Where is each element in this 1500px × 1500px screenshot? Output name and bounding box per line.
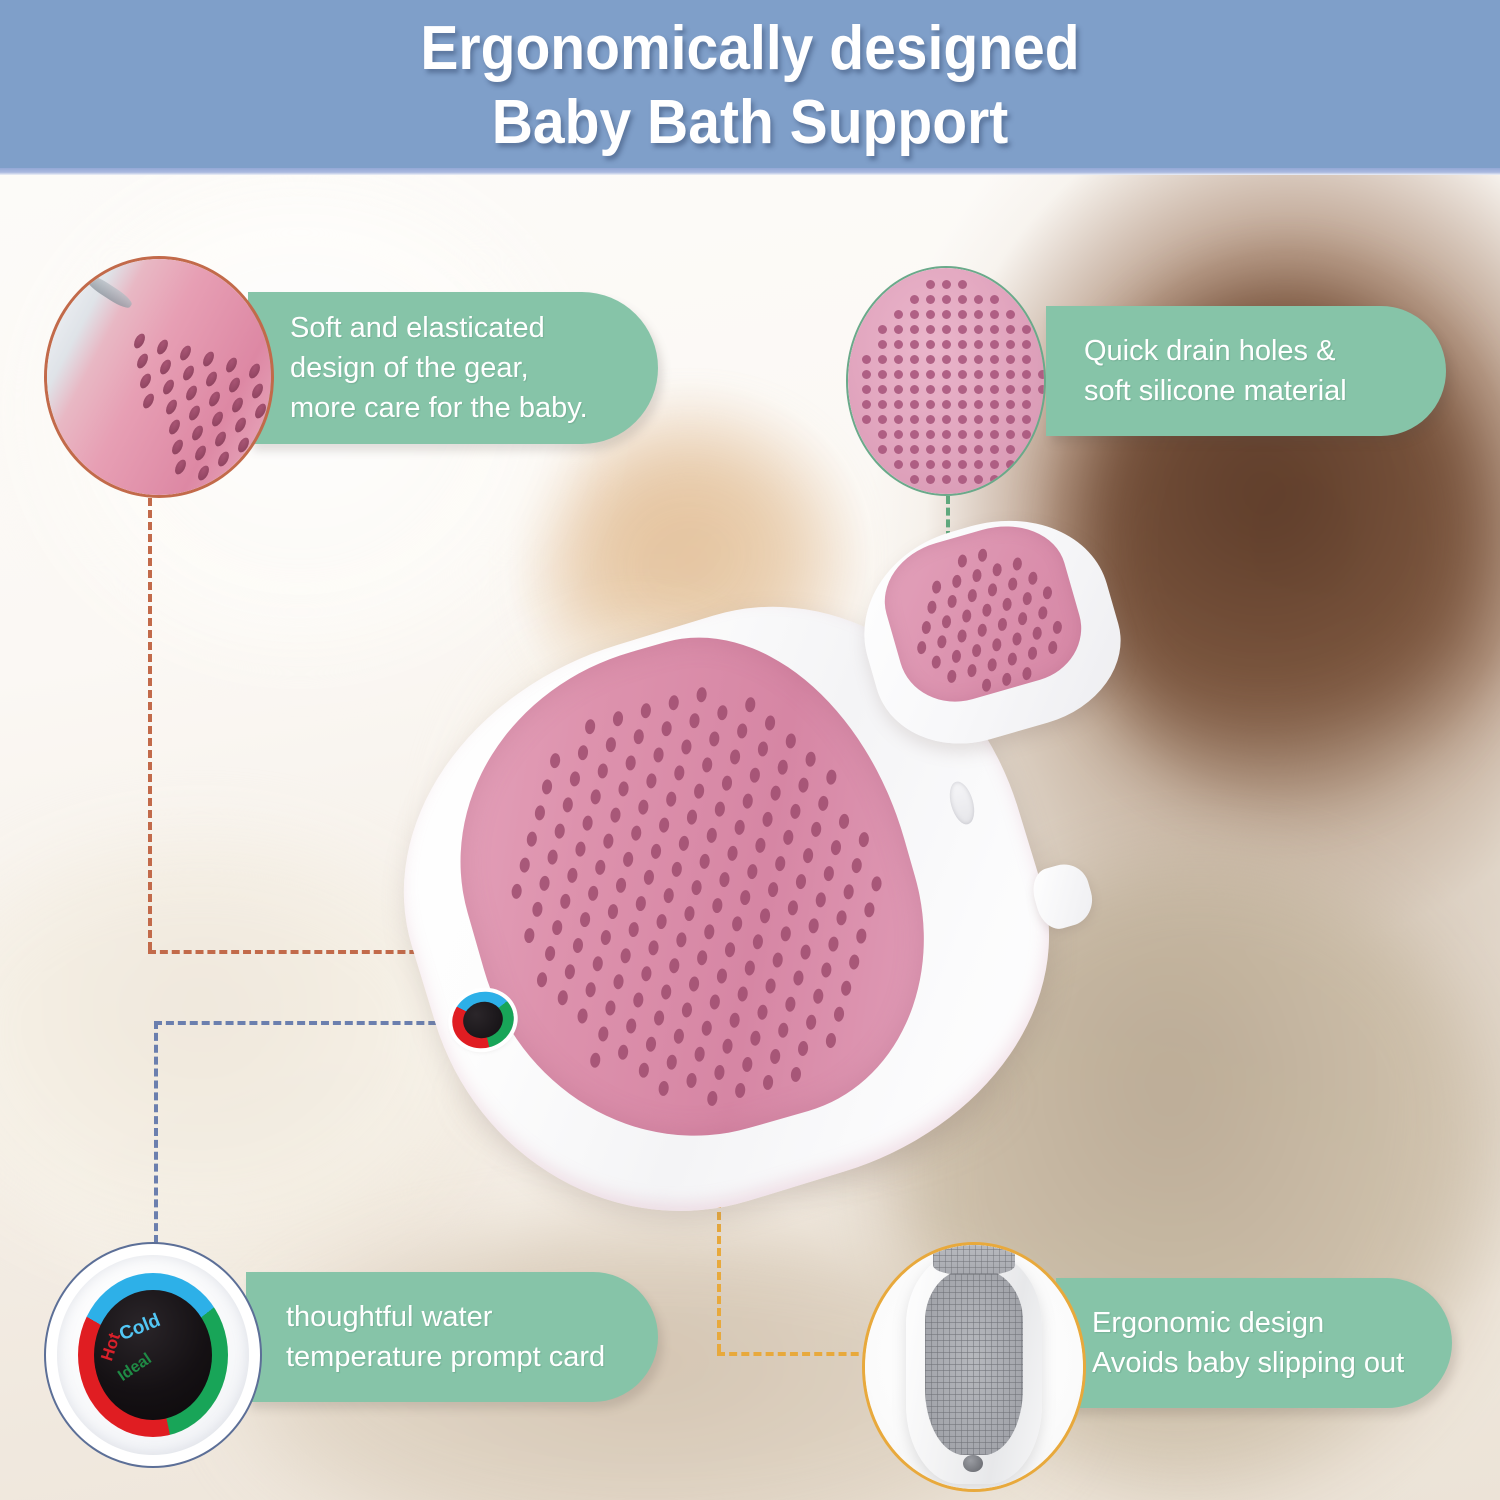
callout-pill-soft-elasticated: Soft and elasticated design of the gear,… — [248, 292, 658, 444]
page-title: Ergonomically designed Baby Bath Support — [60, 0, 1440, 160]
topdown-mesh-seat — [925, 1269, 1023, 1454]
callout-circle-ergonomic — [862, 1242, 1086, 1492]
callout-text-quick-drain: Quick drain holes & soft silicone materi… — [1084, 331, 1347, 411]
product-illustration — [395, 505, 1155, 1245]
circle-content-drain-holes — [848, 268, 1044, 494]
callout-line: temperature prompt card — [286, 1337, 605, 1377]
callout-pill-temperature: thoughtful water temperature prompt card — [246, 1272, 658, 1402]
gear-drain-holes — [47, 259, 271, 495]
circle-content-ergonomic-topdown — [865, 1245, 1083, 1489]
circle-content-pink-gear — [47, 259, 271, 495]
circle-content-temperature-card: Cold Hot Ideal — [46, 1244, 260, 1466]
callout-circle-quick-drain — [846, 266, 1046, 496]
header-band: Ergonomically designed Baby Bath Support — [0, 0, 1500, 168]
callout-pill-ergonomic: Ergonomic design Avoids baby slipping ou… — [1056, 1278, 1452, 1408]
topdown-drain-knob — [963, 1455, 983, 1472]
headrest-drain-holes — [872, 511, 1050, 562]
callout-line: design of the gear, — [290, 348, 588, 388]
infographic-canvas: Ergonomically designed Baby Bath Support — [0, 0, 1500, 1500]
topdown-headrest — [933, 1245, 1016, 1274]
title-line-2: Baby Bath Support — [60, 86, 1440, 160]
header-divider — [0, 168, 1500, 175]
connector-line-temperature-vertical — [154, 1021, 158, 1243]
title-line-1: Ergonomically designed — [420, 14, 1079, 83]
callout-line: Ergonomic design — [1092, 1303, 1404, 1343]
connector-line-ergonomic-horizontal — [717, 1352, 883, 1356]
callout-line: Quick drain holes & — [1084, 331, 1347, 371]
callout-line: Avoids baby slipping out — [1092, 1343, 1404, 1383]
callout-circle-soft-elasticated — [44, 256, 274, 498]
callout-text-temperature: thoughtful water temperature prompt card — [286, 1297, 605, 1377]
callout-line: Soft and elasticated — [290, 308, 588, 348]
callout-circle-temperature: Cold Hot Ideal — [44, 1242, 262, 1468]
callout-line: soft silicone material — [1084, 371, 1347, 411]
callout-line: thoughtful water — [286, 1297, 605, 1337]
connector-line-soft-elasticated-vertical — [148, 498, 152, 950]
drain-hole-grid — [848, 268, 1044, 494]
callout-pill-quick-drain: Quick drain holes & soft silicone materi… — [1046, 306, 1446, 436]
callout-line: more care for the baby. — [290, 388, 588, 428]
callout-text-soft-elasticated: Soft and elasticated design of the gear,… — [290, 308, 588, 428]
callout-text-ergonomic: Ergonomic design Avoids baby slipping ou… — [1092, 1303, 1404, 1383]
